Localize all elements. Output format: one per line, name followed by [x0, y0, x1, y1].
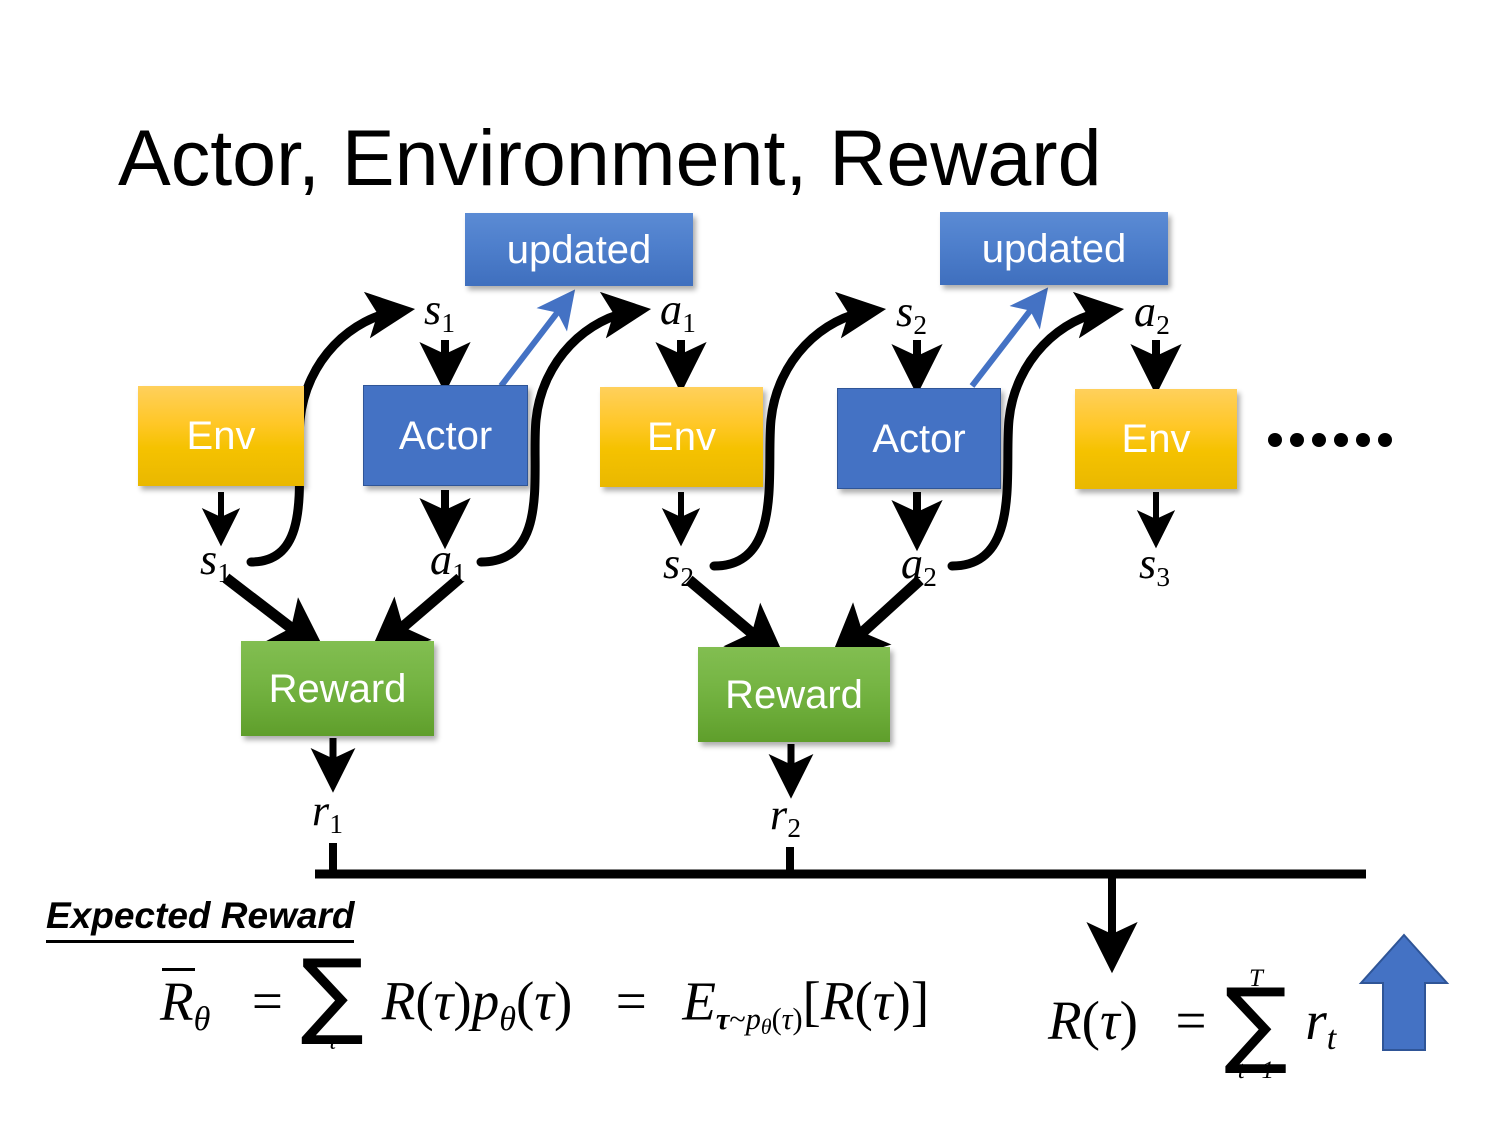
return-r-term: r: [1305, 990, 1326, 1051]
actor-box-1-label: Actor: [399, 416, 492, 456]
env-box-3-label: Env: [1122, 419, 1191, 459]
env-box-2-label: Env: [647, 417, 716, 457]
eq-R-term: R: [382, 971, 416, 1032]
actor-box-2[interactable]: Actor: [837, 388, 1001, 489]
return-equals: =: [1175, 990, 1206, 1051]
eq-R-bar: R: [160, 971, 194, 1032]
eq-equals-1: =: [252, 971, 283, 1032]
reward-box-2[interactable]: Reward: [698, 647, 890, 742]
ellipsis-dots: [1268, 433, 1392, 447]
env-box-2[interactable]: Env: [600, 387, 763, 487]
label-s1-bottom: s1: [200, 538, 231, 582]
eq-p-term: p: [472, 971, 500, 1032]
arrow-a2-to-reward2: [843, 580, 920, 650]
actor-box-2-label: Actor: [872, 419, 965, 459]
eq-expectation-E: E: [682, 971, 716, 1032]
arrow-actor1-to-updated1: [501, 296, 570, 386]
label-s2-bottom: s2: [663, 542, 694, 586]
label-s2-top: s2: [896, 290, 927, 334]
label-a1-top: a1: [660, 288, 696, 332]
arrow-a1-to-reward1: [383, 578, 460, 644]
label-r2: r2: [770, 793, 801, 837]
arrow-actor2-to-updated2: [972, 294, 1043, 386]
reward-box-2-label: Reward: [725, 675, 863, 715]
ellipsis-dot: [1378, 433, 1392, 447]
label-a2-top: a2: [1134, 290, 1170, 334]
sigma-lower-limit: τ: [328, 1029, 337, 1054]
sigma-glyph: ∑: [1224, 985, 1287, 1062]
ellipsis-dot: [1312, 433, 1326, 447]
expected-reward-heading: Expected Reward: [46, 895, 354, 943]
sigma-lower-limit: t=1: [1238, 1058, 1274, 1083]
ellipsis-dot: [1268, 433, 1282, 447]
label-r1: r1: [312, 789, 343, 833]
label-a1-bottom: a1: [430, 538, 466, 582]
ellipsis-dot: [1356, 433, 1370, 447]
eq-equals-2: =: [616, 971, 647, 1032]
updated-box-1[interactable]: updated: [465, 213, 693, 286]
env-box-3[interactable]: Env: [1075, 389, 1237, 489]
updated-box-1-label: updated: [507, 230, 652, 270]
reward-box-1-label: Reward: [269, 669, 407, 709]
sigma-glyph: ∑: [301, 956, 364, 1033]
expected-reward-equation: Rθ = ∑ τ R(τ)pθ(τ) = Eτ~pθ(τ)[R(τ)]: [160, 958, 929, 1056]
eq-expectation-subscript: τ~pθ(τ): [716, 1002, 803, 1036]
ellipsis-dot: [1290, 433, 1304, 447]
updated-box-2-label: updated: [982, 229, 1127, 269]
reward-box-1[interactable]: Reward: [241, 641, 434, 736]
arrow-s1-to-reward1: [226, 578, 312, 644]
slide-canvas: Actor, Environment, Reward updated updat…: [0, 0, 1500, 1125]
label-s3-bottom: s3: [1139, 542, 1170, 586]
maximize-arrow-icon: [1361, 935, 1447, 1050]
arrow-s2-to-reward2: [689, 580, 772, 650]
label-s1-top: s1: [424, 288, 455, 332]
summation-over-tau: ∑ τ: [301, 956, 364, 1054]
summation-t-to-T: T ∑ t=1: [1224, 966, 1287, 1083]
env-box-1[interactable]: Env: [138, 386, 304, 486]
actor-box-1[interactable]: Actor: [363, 385, 528, 486]
updated-box-2[interactable]: updated: [940, 212, 1168, 285]
eq-R-bar-subscript: θ: [194, 1001, 211, 1038]
return-formula: R(τ) = T ∑ t=1 rt: [1048, 968, 1336, 1085]
env-box-1-label: Env: [187, 416, 256, 456]
ellipsis-dot: [1334, 433, 1348, 447]
slide-title: Actor, Environment, Reward: [118, 118, 1102, 197]
label-a2-bottom: a2: [901, 542, 937, 586]
